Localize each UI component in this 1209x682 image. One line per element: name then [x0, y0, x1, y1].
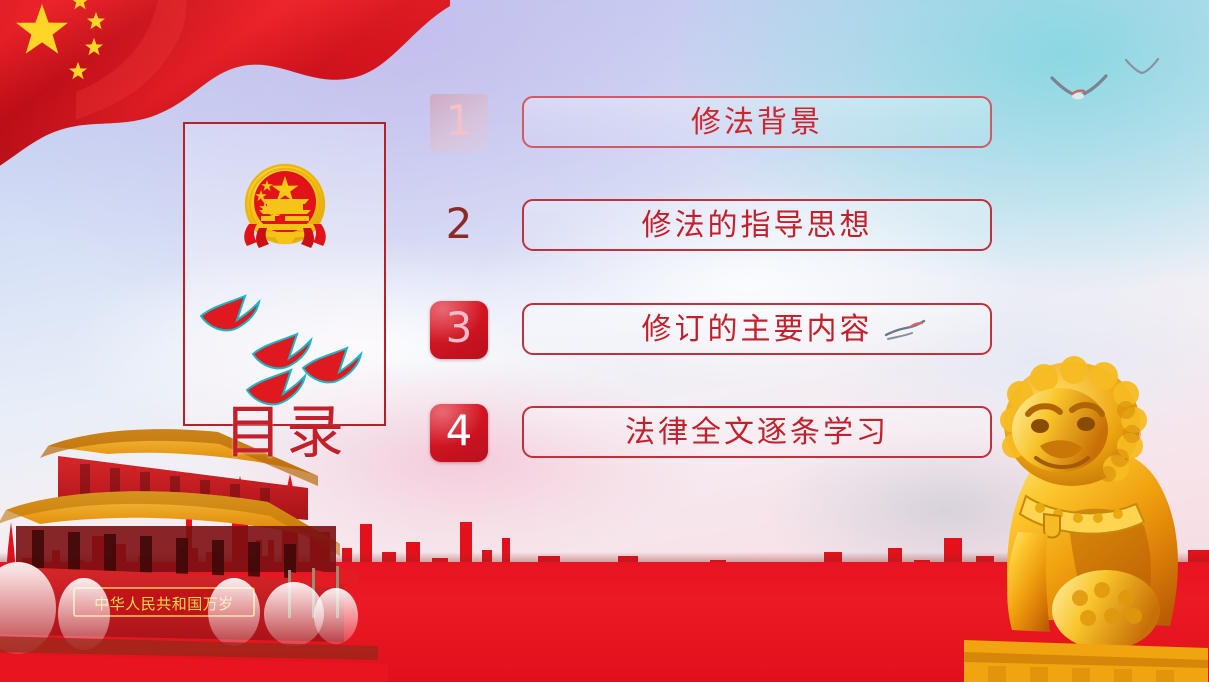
toc-item-label: 法律全文逐条学习 [625, 418, 889, 448]
toc-item-label: 修法背景 [691, 108, 823, 138]
toc-row[interactable]: 3 修订的主要内容 [430, 301, 995, 357]
toc-item-pill[interactable]: 修法的指导思想 [522, 199, 992, 251]
toc-number: 1 [446, 100, 473, 142]
toc-list: 1 修法背景 2 修法的指导思想 3 修订的主要内容 [0, 0, 1209, 682]
toc-item-label: 修订的主要内容 [642, 315, 873, 345]
toc-item-pill[interactable]: 法律全文逐条学习 [522, 406, 992, 458]
toc-row[interactable]: 1 修法背景 [430, 94, 995, 150]
toc-number: 3 [446, 307, 473, 349]
toc-number-badge: 2 [430, 197, 488, 255]
toc-item-pill[interactable]: 修订的主要内容 [522, 303, 992, 355]
toc-number: 4 [446, 410, 473, 452]
presentation-slide: 中华人民共和国万岁 [0, 0, 1209, 682]
toc-item-pill[interactable]: 修法背景 [522, 96, 992, 148]
toc-row[interactable]: 2 修法的指导思想 [430, 197, 995, 253]
toc-number: 2 [446, 203, 473, 245]
toc-row[interactable]: 4 法律全文逐条学习 [430, 404, 995, 460]
toc-number-badge: 3 [430, 301, 488, 359]
toc-item-label: 修法的指导思想 [642, 211, 873, 241]
flying-bird-icon-inline [882, 319, 928, 345]
toc-number-badge: 1 [430, 94, 488, 152]
toc-number-badge: 4 [430, 404, 488, 462]
